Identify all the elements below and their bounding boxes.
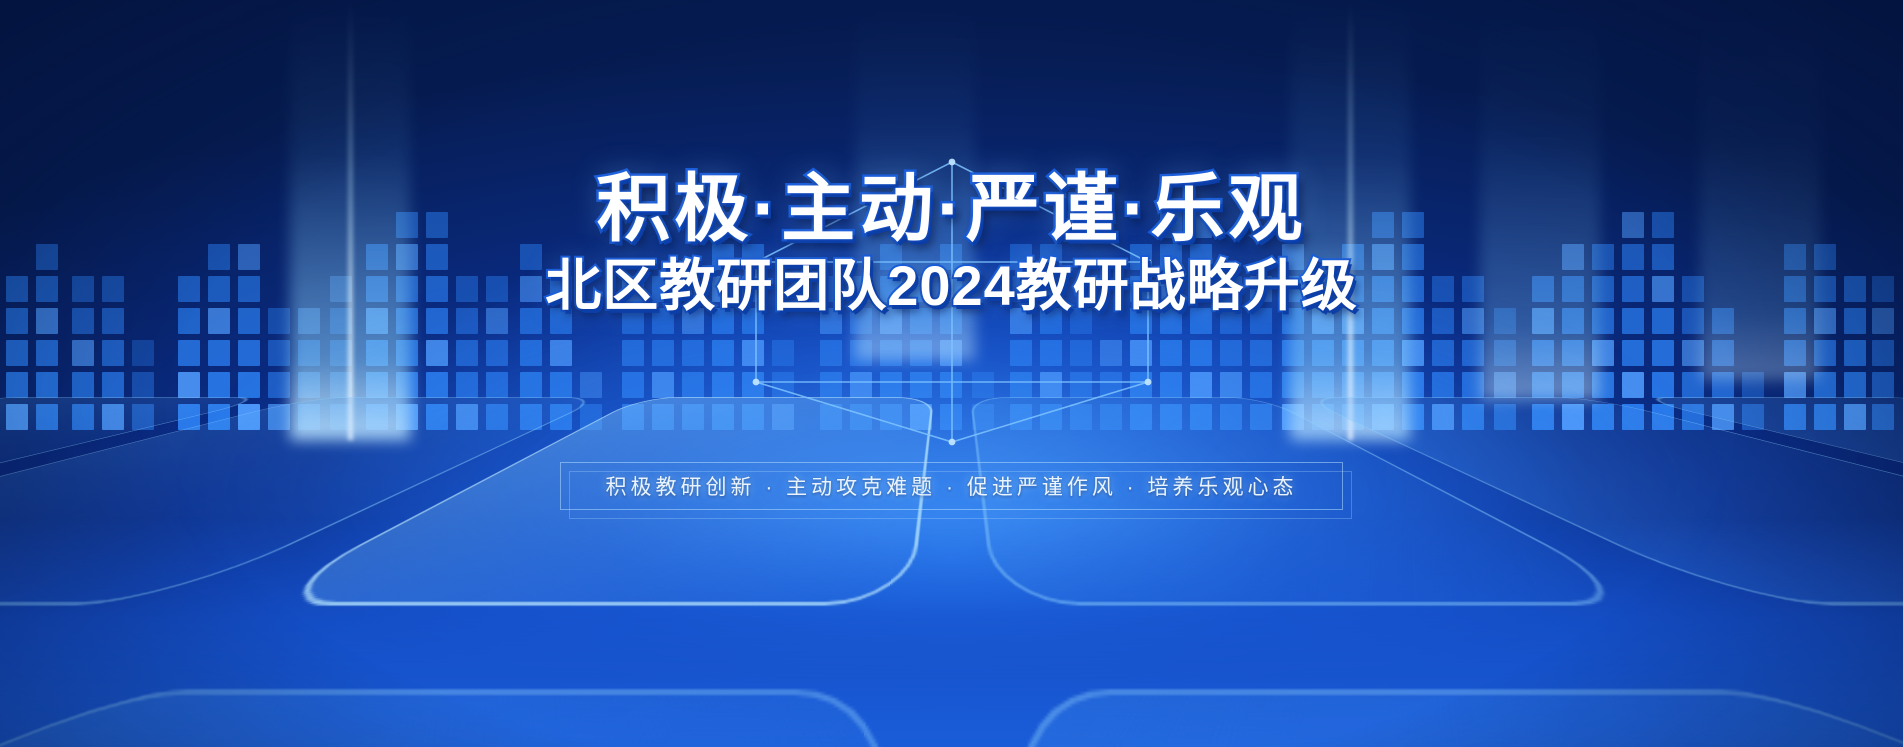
tagline-bar: 积极教研创新 · 主动攻克难题 · 促进严谨作风 · 培养乐观心态 [560,462,1344,510]
skyline-pixel [102,340,124,366]
skyline-pixel [36,340,58,366]
page-title: 积极·主动·严谨·乐观 [0,172,1903,246]
skyline-pixel [1872,340,1894,366]
skyline-pixel [6,340,28,366]
page-subtitle: 北区教研团队2024教研战略升级 [0,258,1903,314]
skyline-pixel [1844,340,1866,366]
skyline-pixel [72,340,94,366]
headline-block: 积极·主动·严谨·乐观 北区教研团队2024教研战略升级 [0,172,1903,314]
skyline-pixel [178,340,200,366]
skyline-pixel [132,340,154,366]
tagline-text: 积极教研创新 · 主动攻克难题 · 促进严谨作风 · 培养乐观心态 [606,471,1298,501]
banner-stage: 积极·主动·严谨·乐观 北区教研团队2024教研战略升级 积极教研创新 · 主动… [0,0,1903,747]
floor-fade [0,517,1903,747]
